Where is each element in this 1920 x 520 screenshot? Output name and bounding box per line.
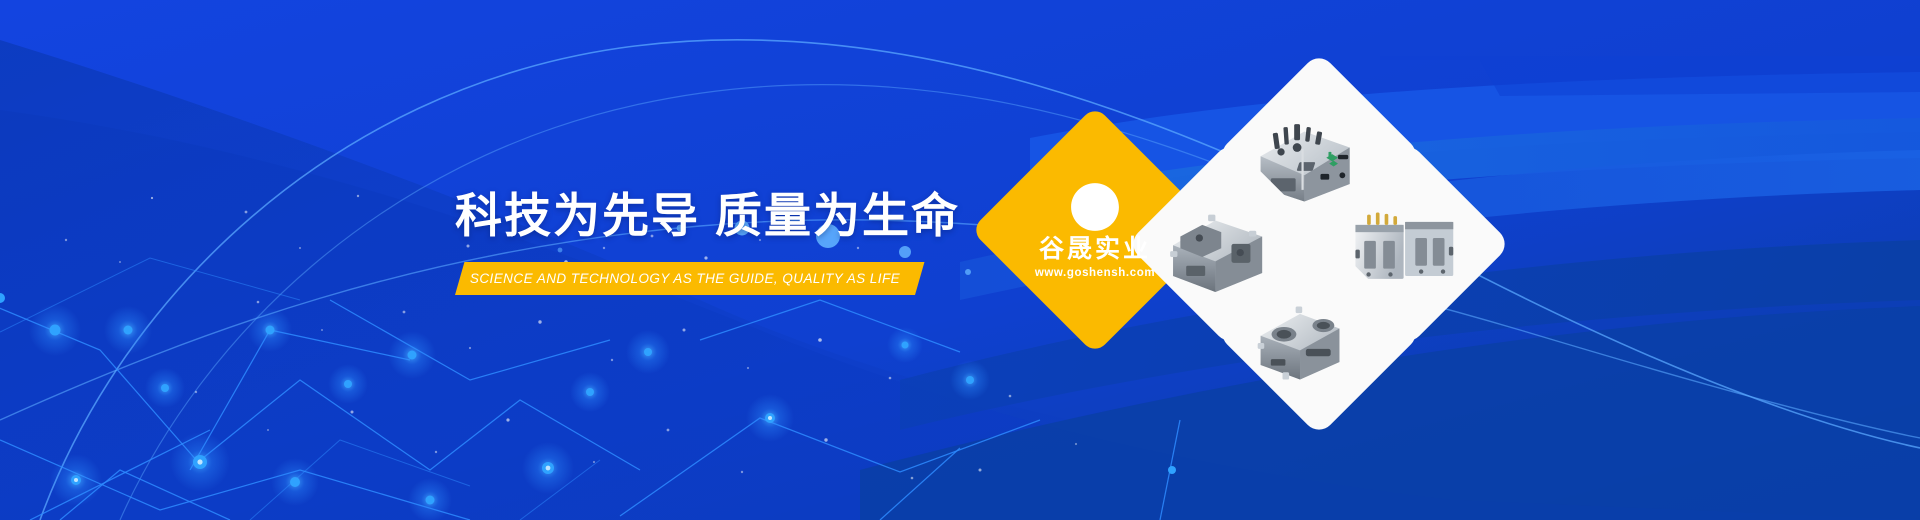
hero-banner: 科技为先导 质量为生命 SCIENCE AND TECHNOLOGY AS TH…	[0, 0, 1920, 520]
page-title: 科技为先导 质量为生命	[455, 190, 935, 242]
background-art	[0, 0, 1920, 520]
headline-block: 科技为先导 质量为生命 SCIENCE AND TECHNOLOGY AS TH…	[455, 190, 935, 295]
subtitle-banner: SCIENCE AND TECHNOLOGY AS THE GUIDE, QUA…	[455, 262, 915, 295]
subtitle-text: SCIENCE AND TECHNOLOGY AS THE GUIDE, QUA…	[455, 262, 915, 295]
injection-mold-photo-bottom	[1246, 260, 1392, 406]
